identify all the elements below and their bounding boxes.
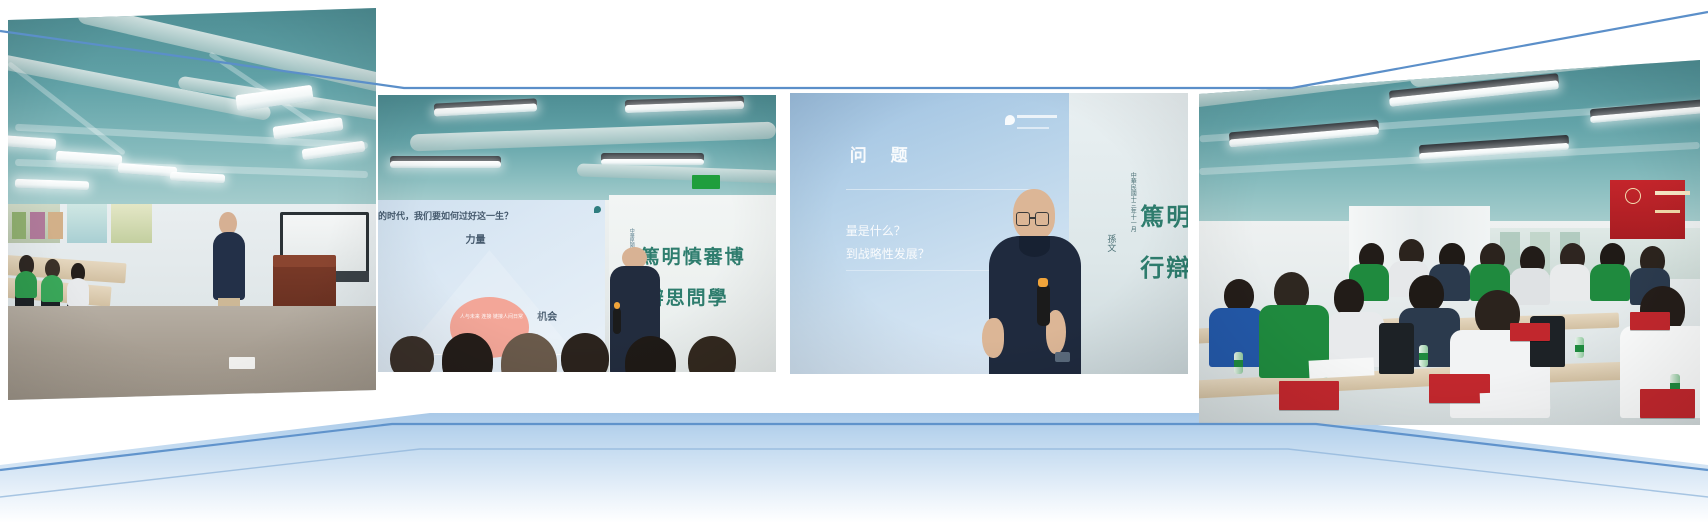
banner-stage: 的时代，我们要如何过好这一生？ 力量 机会 人与未来 连接 链接人间日常 篤明慎… <box>0 0 1708 523</box>
photo-speaker-with-slide-triangle[interactable]: 的时代，我们要如何过好这一生？ 力量 机会 人与未来 连接 链接人间日常 篤明慎… <box>378 95 776 372</box>
photo-strip: 的时代，我们要如何过好这一生？ 力量 机会 人与未来 连接 链接人间日常 篤明慎… <box>0 0 1708 523</box>
photo-speaker-closeup-qa-slide[interactable]: 问 题 量是什么？ 到战略性发展？ 篤明 行辯 中華民國十三年十一月 孫文 <box>790 93 1188 374</box>
photo-audience-seated-right[interactable] <box>1199 60 1700 425</box>
photo-classroom-wide-left[interactable] <box>8 8 376 400</box>
